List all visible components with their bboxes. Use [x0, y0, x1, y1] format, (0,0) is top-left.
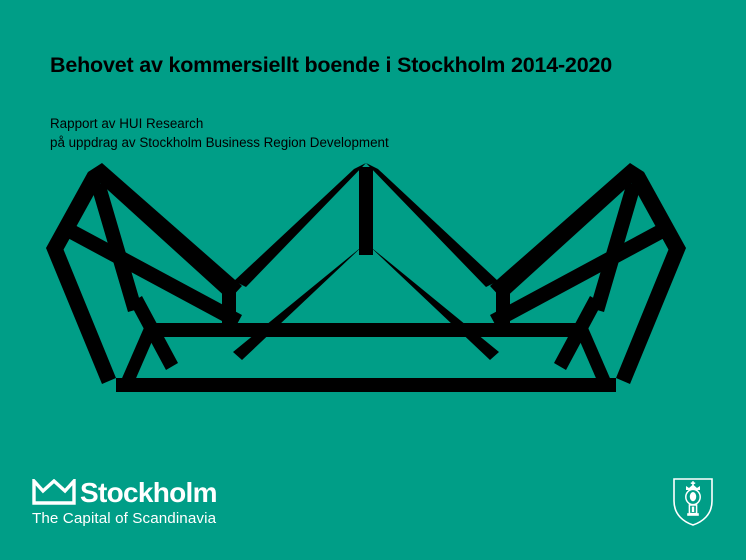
stockholm-coat-of-arms-icon	[671, 477, 715, 527]
subtitle-block: Rapport av HUI Research på uppdrag av St…	[50, 114, 710, 152]
stockholm-wordmark-row: Stockholm	[32, 474, 332, 507]
crown-icon	[32, 479, 76, 505]
stockholm-wordmark-text: Stockholm	[80, 479, 217, 507]
slide-canvas: Behovet av kommersiellt boende i Stockho…	[0, 0, 746, 560]
crown-graphic	[46, 163, 686, 403]
crown-icon-svg	[32, 479, 76, 505]
crown-center-left-outer-slope	[234, 163, 366, 287]
coat-of-arms-svg	[671, 477, 715, 527]
crown-center-right-outer-slope	[366, 163, 498, 287]
page-title: Behovet av kommersiellt boende i Stockho…	[50, 52, 710, 79]
crown-base-top-rail	[146, 323, 586, 337]
crown-center-left-inner-slope	[233, 241, 368, 360]
crown-center-stem	[359, 167, 373, 255]
stockholm-logo: Stockholm The Capital of Scandinavia	[32, 474, 332, 528]
crown-left-outer-lower-edge	[46, 241, 116, 384]
subtitle-line-2: på uppdrag av Stockholm Business Region …	[50, 133, 710, 152]
crown-base-bottom-rail	[116, 378, 616, 392]
crown-graphic-svg	[46, 163, 686, 403]
crown-right-outer-lower-edge	[616, 241, 686, 384]
title-block: Behovet av kommersiellt boende i Stockho…	[50, 52, 710, 79]
stockholm-tagline: The Capital of Scandinavia	[32, 511, 332, 528]
crown-center-right-inner-slope	[364, 241, 499, 360]
subtitle-line-1: Rapport av HUI Research	[50, 114, 710, 133]
